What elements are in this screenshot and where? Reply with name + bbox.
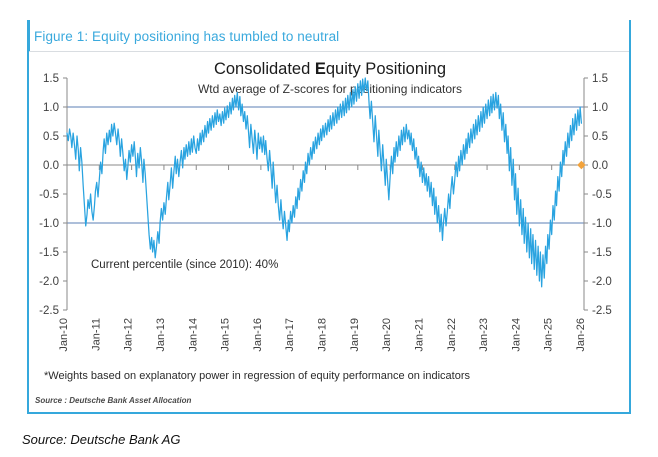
y-tick-label-left-1: 1.0 (43, 102, 59, 114)
y-tick-labels-left: 1.51.00.50.0-0.5-1.0-1.5-2.0-2.5 (39, 73, 59, 317)
equity-positioning-line-chart: Jan-10Jan-11Jan-12Jan-13Jan-14Jan-15Jan-… (0, 0, 658, 457)
y-tick-label-left-4: -0.5 (39, 189, 59, 201)
x-tick-label-10: Jan-20 (381, 318, 393, 352)
x-tick-labels: Jan-10Jan-11Jan-12Jan-13Jan-14Jan-15Jan-… (58, 318, 587, 352)
chart-footnote: *Weights based on explanatory power in r… (44, 370, 470, 382)
y-tick-label-left-7: -2.0 (39, 276, 59, 288)
percentile-annotation: Current percentile (since 2010): 40% (91, 259, 278, 271)
y-tick-label-right-4: -0.5 (592, 189, 612, 201)
y-tick-label-left-3: 0.0 (43, 160, 59, 172)
y-tick-labels-right: 1.51.00.50.0-0.5-1.0-1.5-2.0-2.5 (592, 73, 612, 317)
x-tick-label-7: Jan-17 (284, 318, 296, 352)
series-line-0 (67, 78, 581, 287)
y-tick-label-right-8: -2.5 (592, 305, 612, 317)
y-tick-label-left-5: -1.0 (39, 218, 59, 230)
x-tick-label-14: Jan-24 (510, 318, 522, 352)
chart-plot-area: Jan-10Jan-11Jan-12Jan-13Jan-14Jan-15Jan-… (0, 0, 658, 457)
x-tick-label-15: Jan-25 (543, 318, 555, 352)
x-tick-label-13: Jan-23 (478, 318, 490, 352)
data-series-group (67, 78, 581, 287)
x-tick-label-3: Jan-13 (155, 318, 167, 352)
y-tick-label-right-0: 1.5 (592, 73, 608, 85)
y-axis-left (63, 78, 67, 310)
y-tick-label-right-6: -1.5 (592, 247, 612, 259)
x-tick-label-6: Jan-16 (252, 318, 264, 352)
x-tick-label-5: Jan-15 (220, 318, 232, 352)
figure-page: Figure 1: Equity positioning has tumbled… (0, 0, 658, 457)
x-tick-label-0: Jan-10 (58, 318, 70, 352)
y-tick-label-left-2: 0.5 (43, 131, 59, 143)
y-tick-label-right-2: 0.5 (592, 131, 608, 143)
x-tick-label-2: Jan-12 (123, 318, 135, 352)
y-tick-label-left-8: -2.5 (39, 305, 59, 317)
x-tick-label-9: Jan-19 (349, 318, 361, 352)
x-tick-label-11: Jan-21 (413, 318, 425, 352)
y-tick-label-right-3: 0.0 (592, 160, 608, 172)
y-tick-label-right-1: 1.0 (592, 102, 608, 114)
x-tick-label-8: Jan-18 (317, 318, 329, 352)
y-tick-label-right-7: -2.0 (592, 276, 612, 288)
y-tick-label-left-6: -1.5 (39, 247, 59, 259)
y-axis-right (584, 78, 588, 310)
x-tick-label-12: Jan-22 (446, 318, 458, 352)
x-tick-label-4: Jan-14 (187, 318, 199, 352)
page-source: Source: Deutsche Bank AG (22, 432, 181, 447)
y-tick-label-right-5: -1.0 (592, 218, 612, 230)
x-tick-label-16: Jan-26 (575, 318, 587, 352)
chart-source: Source : Deutsche Bank Asset Allocation (35, 396, 191, 405)
y-tick-label-left-0: 1.5 (43, 73, 59, 85)
x-tick-label-1: Jan-11 (90, 318, 102, 351)
